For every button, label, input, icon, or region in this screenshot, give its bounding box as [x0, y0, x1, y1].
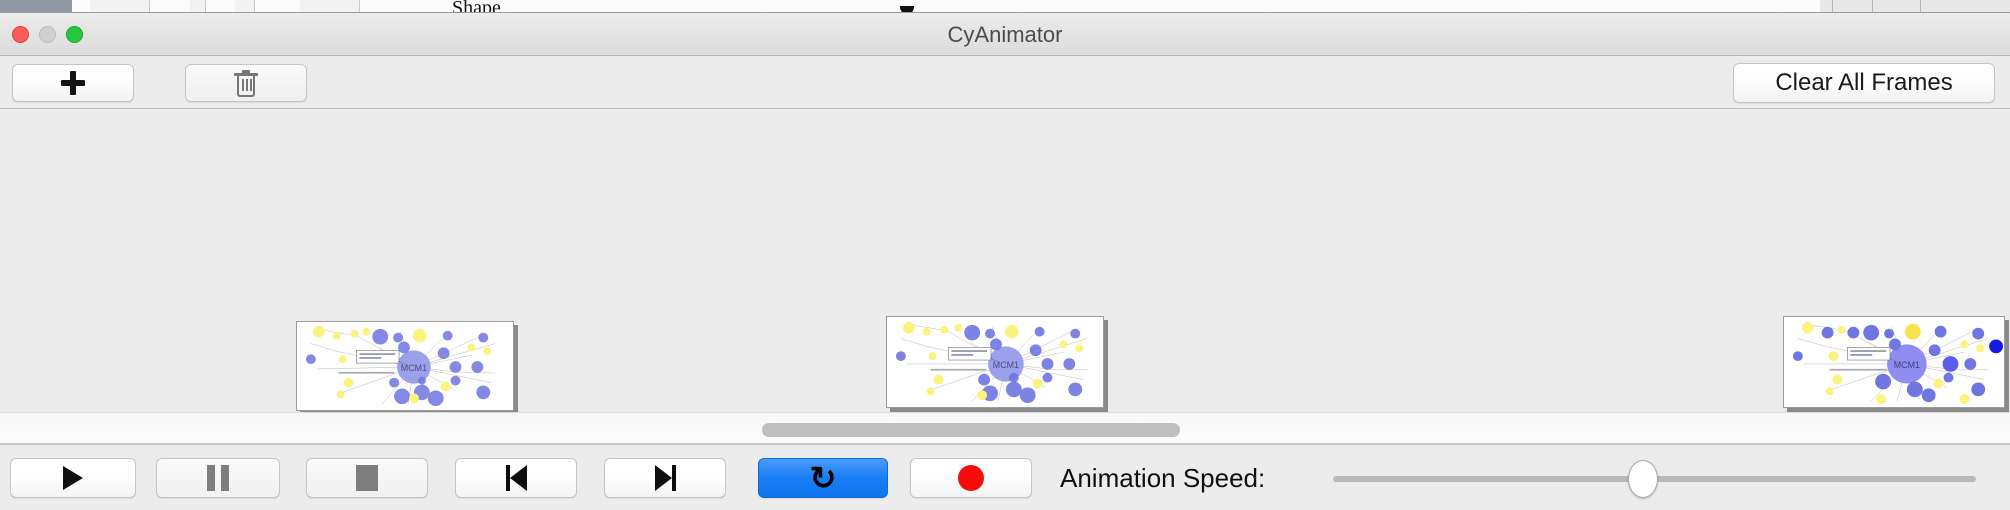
timeline-panel[interactable]: MCM1: [0, 109, 2010, 412]
background-window-label: Shape: [452, 0, 501, 13]
skip-next-icon: [655, 465, 676, 491]
loop-icon: ↻: [810, 462, 837, 494]
pause-button[interactable]: [156, 458, 280, 498]
play-icon: [63, 466, 83, 490]
slider-thumb[interactable]: [1628, 460, 1658, 498]
playback-controls-bar: ↻ Animation Speed:: [0, 444, 2010, 510]
loop-button[interactable]: ↻: [758, 458, 888, 498]
titlebar: CyAnimator: [0, 13, 2010, 56]
svg-text:MCM1: MCM1: [1894, 360, 1920, 370]
background-window-strip: Shape: [0, 0, 2010, 13]
scrollbar-thumb[interactable]: [762, 423, 1180, 437]
animation-speed-slider[interactable]: [1333, 476, 1976, 482]
stop-button[interactable]: [306, 458, 428, 498]
add-frame-button[interactable]: [12, 64, 134, 102]
network-graph-thumbnail: MCM1: [297, 322, 513, 410]
window-title: CyAnimator: [0, 13, 2010, 56]
play-button[interactable]: [10, 458, 136, 498]
background-window-titlebar-fragment: [0, 0, 72, 13]
cyanimator-window: Shape CyAnimator Clear All Frames: [0, 0, 2010, 510]
timeline-frame-2[interactable]: MCM1: [886, 316, 1104, 408]
background-window-cursor-fragment: [900, 6, 914, 13]
timeline-frame-3[interactable]: MCM1: [1783, 316, 2005, 408]
plus-icon: [59, 69, 87, 97]
previous-frame-button[interactable]: [455, 458, 577, 498]
animation-speed-label: Animation Speed:: [1060, 458, 1265, 498]
trash-icon: [234, 70, 258, 97]
timeline-horizontal-scrollbar[interactable]: [0, 412, 2010, 444]
network-graph-thumbnail: MCM1: [887, 317, 1103, 407]
timeline-frame-1[interactable]: MCM1: [296, 321, 514, 411]
clear-all-frames-label: Clear All Frames: [1775, 69, 1952, 97]
record-icon: [958, 465, 984, 491]
stop-icon: [356, 465, 378, 491]
next-frame-button[interactable]: [604, 458, 726, 498]
toolbar: Clear All Frames: [0, 56, 2010, 109]
delete-frame-button[interactable]: [185, 64, 307, 102]
network-graph-thumbnail: MCM1: [1784, 317, 2004, 407]
pause-icon: [207, 465, 229, 491]
skip-previous-icon: [506, 465, 527, 491]
background-window-tabs-fragment: [1820, 0, 2010, 13]
record-button[interactable]: [910, 458, 1032, 498]
clear-all-frames-button[interactable]: Clear All Frames: [1733, 63, 1995, 103]
